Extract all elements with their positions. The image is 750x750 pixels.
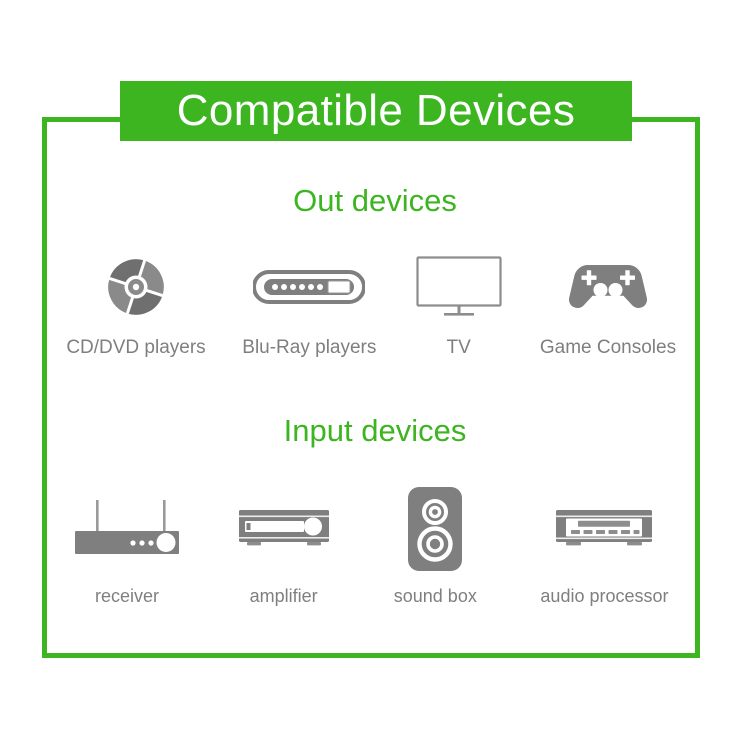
device-label: CD/DVD players bbox=[66, 338, 205, 357]
out-devices-row: CD/DVD players bbox=[52, 248, 692, 357]
device-blu-ray-players: Blu-Ray players bbox=[225, 248, 393, 357]
device-cd-dvd-players: CD/DVD players bbox=[52, 248, 220, 357]
blu-ray-player-icon bbox=[253, 248, 365, 326]
title-banner: Compatible Devices bbox=[120, 81, 632, 141]
device-amplifier: amplifier bbox=[214, 483, 354, 605]
page-title: Compatible Devices bbox=[177, 89, 575, 133]
audio-processor-icon bbox=[554, 483, 654, 575]
input-devices-row: receiver amplifier bbox=[52, 483, 692, 605]
device-label: Game Consoles bbox=[540, 338, 676, 357]
device-label: receiver bbox=[95, 587, 159, 605]
device-receiver: receiver bbox=[52, 483, 202, 605]
section-heading-out-devices: Out devices bbox=[0, 185, 750, 216]
device-sound-box: sound box bbox=[365, 483, 505, 605]
device-label: sound box bbox=[394, 587, 477, 605]
speaker-icon bbox=[407, 483, 463, 575]
gamepad-icon bbox=[566, 248, 650, 326]
compatible-devices-poster: Compatible Devices Out devices bbox=[0, 0, 750, 750]
compact-disc-icon bbox=[103, 248, 169, 326]
section-heading-input-devices: Input devices bbox=[0, 415, 750, 446]
device-label: TV bbox=[447, 338, 471, 357]
device-game-consoles: Game Consoles bbox=[524, 248, 692, 357]
amplifier-icon bbox=[237, 483, 331, 575]
device-label: Blu-Ray players bbox=[242, 338, 376, 357]
device-audio-processor: audio processor bbox=[517, 483, 692, 605]
device-label: audio processor bbox=[540, 587, 668, 605]
tv-icon bbox=[416, 248, 502, 326]
device-label: amplifier bbox=[250, 587, 318, 605]
receiver-icon bbox=[71, 483, 183, 575]
device-tv: TV bbox=[399, 248, 519, 357]
